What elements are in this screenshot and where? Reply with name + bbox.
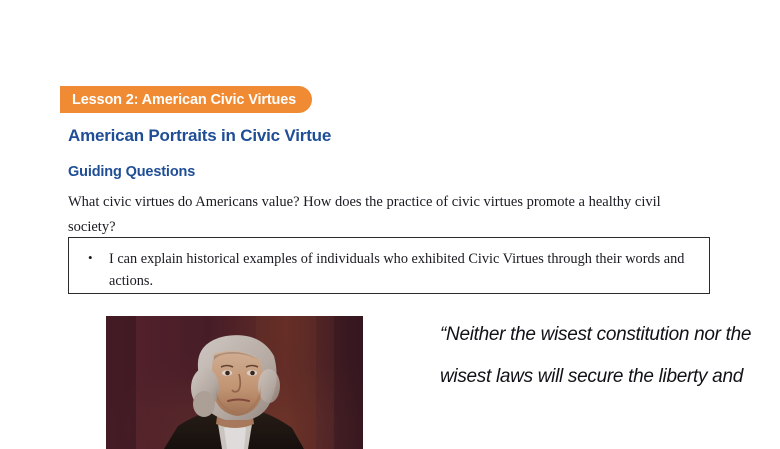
guiding-questions-text: What civic virtues do Americans value? H… (68, 190, 668, 240)
portrait-image-samuel-adams (106, 316, 363, 449)
portrait-illustration (106, 316, 363, 449)
guiding-questions-heading: Guiding Questions (68, 164, 195, 180)
page-title: American Portraits in Civic Virtue (68, 126, 331, 146)
objective-list: I can explain historical examples of ind… (69, 238, 709, 292)
list-item: I can explain historical examples of ind… (109, 248, 691, 292)
lesson-tag: Lesson 2: American Civic Virtues (60, 86, 312, 113)
learning-objective-box: I can explain historical examples of ind… (68, 237, 710, 294)
pull-quote: “Neither the wisest constitution nor the… (440, 314, 770, 398)
lesson-tag-label: Lesson 2: American Civic Virtues (72, 92, 296, 108)
